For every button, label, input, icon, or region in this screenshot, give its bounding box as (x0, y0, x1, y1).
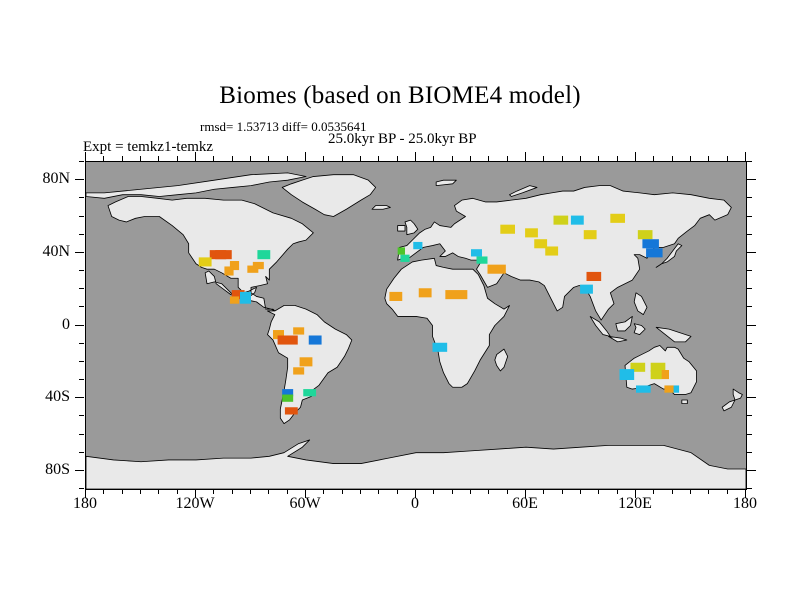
y-tick-left (79, 161, 84, 162)
y-tick-right (747, 470, 756, 471)
biome-cell (571, 216, 584, 225)
y-tick-right (747, 270, 752, 271)
map-graphic (86, 162, 746, 489)
y-tick-left (79, 488, 84, 489)
biome-cell (664, 385, 673, 392)
x-axis-tick-label: 0 (411, 495, 419, 513)
x-tick-top (452, 156, 453, 161)
biome-cell (642, 239, 659, 248)
x-axis-tick-label: 120W (175, 495, 214, 513)
y-tick-right (747, 415, 752, 416)
biome-cell (215, 250, 232, 259)
biome-cell (580, 285, 593, 294)
y-tick-left (79, 343, 84, 344)
y-tick-left (79, 306, 84, 307)
biome-cell (285, 407, 298, 414)
x-tick-bottom (378, 489, 379, 494)
biome-cell (488, 265, 506, 274)
biome-cell (545, 246, 558, 255)
biome-cell (257, 250, 270, 259)
y-axis-tick-label: 40S (12, 388, 70, 406)
biome-cell (534, 239, 547, 248)
y-tick-left (75, 470, 84, 471)
x-tick-top (708, 156, 709, 161)
biome-cell (413, 242, 422, 249)
x-tick-top (213, 156, 214, 161)
x-tick-top (672, 156, 673, 161)
x-tick-top (653, 156, 654, 161)
x-tick-bottom (452, 489, 453, 494)
x-tick-top (140, 156, 141, 161)
x-tick-bottom (617, 489, 618, 494)
x-tick-bottom (672, 489, 673, 494)
biome-cell (400, 255, 409, 262)
x-tick-bottom (598, 489, 599, 494)
biome-cell (646, 248, 663, 257)
biome-cell (500, 225, 515, 234)
x-tick-top (745, 152, 746, 161)
biome-cell (293, 327, 304, 334)
x-tick-bottom (268, 489, 269, 494)
y-tick-left (79, 288, 84, 289)
x-tick-top (470, 156, 471, 161)
y-tick-left (79, 415, 84, 416)
biome-cell (471, 249, 482, 256)
x-tick-bottom (232, 489, 233, 494)
x-tick-top (268, 156, 269, 161)
y-tick-right (747, 343, 752, 344)
biome-cell (433, 343, 448, 352)
y-tick-right (747, 452, 752, 453)
x-tick-bottom (433, 489, 434, 494)
biome-cell (293, 367, 304, 374)
biome-cell (278, 335, 298, 344)
biome-cell (247, 266, 258, 273)
x-axis-tick-label: 60E (512, 495, 538, 513)
biome-cell (584, 230, 597, 239)
x-tick-top (635, 152, 636, 161)
y-tick-left (79, 361, 84, 362)
x-axis-tick-label: 120E (618, 495, 652, 513)
x-axis-tick-label: 180 (733, 495, 757, 513)
y-tick-right (747, 361, 752, 362)
biome-cell (199, 257, 212, 266)
biome-cell (282, 395, 293, 402)
x-tick-bottom (727, 489, 728, 494)
x-tick-top (158, 156, 159, 161)
y-tick-left (79, 379, 84, 380)
y-tick-left (79, 452, 84, 453)
y-tick-right (747, 252, 756, 253)
x-axis-tick-label: 60W (289, 495, 320, 513)
y-tick-left (79, 270, 84, 271)
x-tick-bottom (213, 489, 214, 494)
biome-cell (554, 216, 569, 225)
x-tick-top (360, 156, 361, 161)
y-tick-right (747, 288, 752, 289)
x-tick-top (342, 156, 343, 161)
x-tick-top (177, 156, 178, 161)
x-tick-top (287, 156, 288, 161)
x-tick-top (397, 156, 398, 161)
landmass-tasmania (682, 400, 688, 404)
y-tick-right (747, 306, 752, 307)
x-tick-bottom (323, 489, 324, 494)
biome-cell (240, 296, 251, 303)
biome-cell (398, 247, 405, 254)
x-tick-bottom (543, 489, 544, 494)
biome-cell (620, 369, 635, 380)
biome-cell (389, 292, 402, 301)
biome-cell (638, 230, 653, 239)
y-tick-left (79, 197, 84, 198)
x-tick-bottom (140, 489, 141, 494)
biome-cell (525, 228, 538, 237)
x-tick-bottom (708, 489, 709, 494)
x-tick-top (250, 156, 251, 161)
y-tick-left (79, 234, 84, 235)
y-tick-right (747, 234, 752, 235)
x-tick-bottom (250, 489, 251, 494)
y-tick-right (747, 179, 756, 180)
y-tick-right (747, 197, 752, 198)
biome-cell (636, 385, 651, 392)
x-tick-top (525, 152, 526, 161)
y-tick-left (75, 179, 84, 180)
biome-cell (610, 214, 625, 223)
page-title: Biomes (based on BIOME4 model) (0, 82, 800, 110)
x-tick-bottom (488, 489, 489, 494)
biome-cell (309, 335, 322, 344)
y-tick-left (75, 252, 84, 253)
x-tick-bottom (158, 489, 159, 494)
y-tick-right (747, 161, 752, 162)
x-tick-bottom (507, 489, 508, 494)
y-axis-tick-label: 40N (12, 243, 70, 261)
x-tick-bottom (562, 489, 563, 494)
x-tick-bottom (580, 489, 581, 494)
experiment-label: Expt = temkz1-temkz (83, 139, 213, 156)
x-tick-bottom (360, 489, 361, 494)
y-tick-right (747, 325, 756, 326)
y-tick-right (747, 397, 756, 398)
x-tick-top (690, 156, 691, 161)
x-tick-top (488, 156, 489, 161)
biome-cell (445, 290, 467, 299)
x-tick-top (103, 156, 104, 161)
y-tick-right (747, 434, 752, 435)
x-tick-top (415, 152, 416, 161)
biome-cell (587, 272, 602, 281)
x-tick-top (323, 156, 324, 161)
biome-cell (300, 357, 313, 366)
x-tick-top (507, 156, 508, 161)
biome-cell (303, 389, 316, 396)
x-tick-top (580, 156, 581, 161)
y-tick-right (747, 379, 752, 380)
y-axis-tick-label: 80N (12, 170, 70, 188)
y-tick-left (79, 216, 84, 217)
x-tick-top (727, 156, 728, 161)
x-tick-top (598, 156, 599, 161)
x-tick-top (617, 156, 618, 161)
x-tick-top (232, 156, 233, 161)
x-tick-top (433, 156, 434, 161)
y-axis-tick-label: 0 (12, 316, 70, 334)
x-tick-bottom (122, 489, 123, 494)
biome-cell (477, 256, 488, 263)
biome-cell (224, 266, 233, 275)
x-tick-bottom (653, 489, 654, 494)
period-label: 25.0kyr BP - 25.0kyr BP (328, 131, 477, 148)
x-axis-tick-label: 180 (73, 495, 97, 513)
x-tick-bottom (690, 489, 691, 494)
world-map-plot (85, 161, 747, 490)
x-tick-top (378, 156, 379, 161)
biome-cell (230, 296, 239, 303)
x-tick-top (85, 152, 86, 161)
y-axis-tick-label: 80S (12, 461, 70, 479)
x-tick-bottom (397, 489, 398, 494)
y-tick-right (747, 488, 752, 489)
x-tick-top (543, 156, 544, 161)
biome-cell (651, 370, 662, 379)
y-tick-right (747, 216, 752, 217)
x-tick-top (562, 156, 563, 161)
x-tick-bottom (287, 489, 288, 494)
y-tick-left (75, 325, 84, 326)
landmass-ireland (398, 226, 405, 231)
x-tick-top (195, 152, 196, 161)
figure-canvas: Biomes (based on BIOME4 model) rmsd= 1.5… (0, 0, 800, 600)
y-tick-left (79, 434, 84, 435)
x-tick-bottom (470, 489, 471, 494)
x-tick-bottom (342, 489, 343, 494)
y-tick-left (75, 397, 84, 398)
biome-cell (419, 288, 432, 297)
x-tick-top (305, 152, 306, 161)
x-tick-bottom (103, 489, 104, 494)
x-tick-bottom (177, 489, 178, 494)
x-tick-top (122, 156, 123, 161)
